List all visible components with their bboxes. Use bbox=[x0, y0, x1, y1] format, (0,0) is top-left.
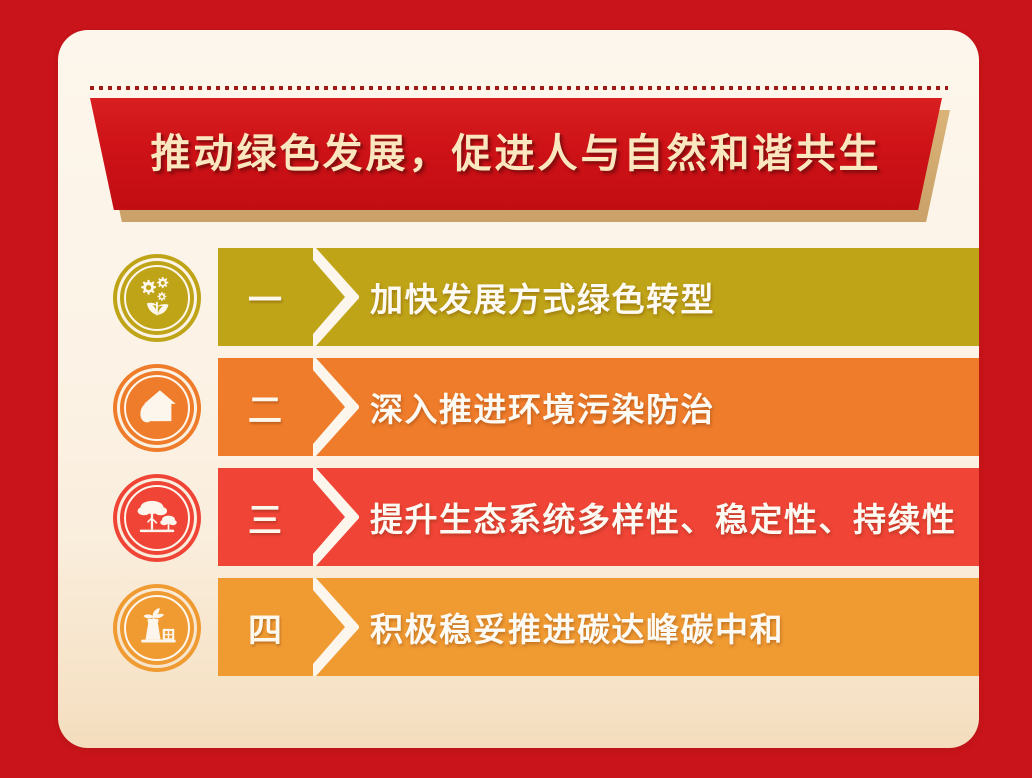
item-bar[interactable]: 二 深入推进环境污染防治 bbox=[218, 358, 979, 456]
list-item[interactable]: 二 深入推进环境污染防治 bbox=[58, 352, 979, 462]
item-medallion bbox=[113, 254, 201, 342]
item-label: 加快发展方式绿色转型 bbox=[370, 248, 715, 346]
item-medallion bbox=[113, 474, 201, 562]
content-panel: 推动绿色发展，促进人与自然和谐共生 一 加快发展方式绿色转型 二 bbox=[58, 30, 979, 748]
item-label: 深入推进环境污染防治 bbox=[370, 358, 715, 456]
chevron-right-icon bbox=[313, 358, 359, 456]
banner-face: 推动绿色发展，促进人与自然和谐共生 bbox=[90, 98, 942, 210]
dotted-divider bbox=[90, 86, 948, 90]
item-medallion bbox=[113, 584, 201, 672]
list-item[interactable]: 四 积极稳妥推进碳达峰碳中和 bbox=[58, 572, 979, 682]
title-banner: 推动绿色发展，促进人与自然和谐共生 bbox=[90, 98, 950, 228]
item-bar[interactable]: 三 提升生态系统多样性、稳定性、持续性 bbox=[218, 468, 979, 566]
chevron-right-icon bbox=[313, 468, 359, 566]
list-item[interactable]: 一 加快发展方式绿色转型 bbox=[58, 242, 979, 352]
factory-leaf-icon bbox=[134, 603, 180, 654]
list-item[interactable]: 三 提升生态系统多样性、稳定性、持续性 bbox=[58, 462, 979, 572]
chevron-right-icon bbox=[313, 578, 359, 676]
item-bar[interactable]: 一 加快发展方式绿色转型 bbox=[218, 248, 979, 346]
item-bar[interactable]: 四 积极稳妥推进碳达峰碳中和 bbox=[218, 578, 979, 676]
item-medallion bbox=[113, 364, 201, 452]
item-numeral: 三 bbox=[218, 468, 313, 566]
trees-icon bbox=[134, 493, 180, 544]
page-title: 推动绿色发展，促进人与自然和谐共生 bbox=[151, 134, 882, 174]
item-numeral: 二 bbox=[218, 358, 313, 456]
item-numeral: 一 bbox=[218, 248, 313, 346]
items-list: 一 加快发展方式绿色转型 二 深入推进环境污染防治 bbox=[58, 242, 979, 682]
item-label: 提升生态系统多样性、稳定性、持续性 bbox=[370, 468, 957, 566]
item-label: 积极稳妥推进碳达峰碳中和 bbox=[370, 578, 784, 676]
slide-background: 推动绿色发展，促进人与自然和谐共生 一 加快发展方式绿色转型 二 bbox=[0, 0, 1032, 778]
chevron-right-icon bbox=[313, 248, 359, 346]
house-leaf-icon bbox=[134, 383, 180, 434]
item-numeral: 四 bbox=[218, 578, 313, 676]
gears-plant-icon bbox=[134, 273, 180, 324]
